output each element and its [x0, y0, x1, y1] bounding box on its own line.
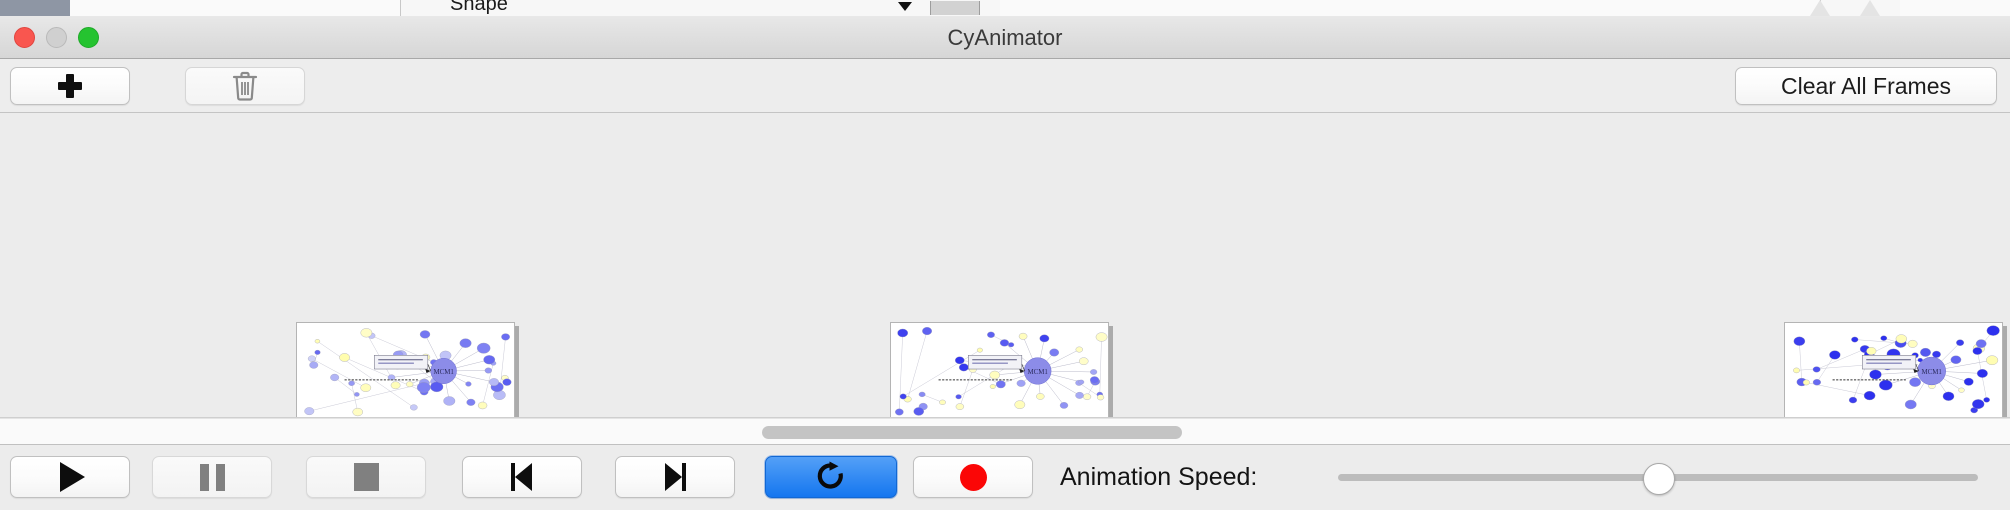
cyanimator-window: Shape CyAnimator Clear A [0, 0, 2010, 510]
keyframe-thumbnail[interactable]: MCM1 [890, 322, 1109, 418]
keyframe-thumbnail[interactable]: MCM1 [1784, 322, 2003, 418]
skip-to-end-button[interactable] [615, 456, 735, 498]
stop-icon [354, 463, 379, 491]
animation-speed-label: Animation Speed: [1060, 456, 1257, 498]
add-frame-button[interactable] [10, 67, 130, 105]
keyframe-thumbnail[interactable]: MCM1 [296, 322, 515, 418]
timeline-scrollbar[interactable] [0, 418, 2010, 445]
loop-button[interactable] [765, 456, 897, 498]
window-title: CyAnimator [0, 16, 2010, 59]
background-window-cell [230, 0, 301, 16]
background-window-label: Shape [450, 0, 508, 16]
svg-text:MCM1: MCM1 [1921, 369, 1942, 376]
trash-icon [232, 71, 258, 101]
clear-all-frames-label: Clear All Frames [1781, 73, 1951, 100]
clear-all-frames-button[interactable]: Clear All Frames [1735, 67, 1997, 105]
play-button[interactable] [10, 456, 130, 498]
record-icon [960, 464, 987, 491]
pause-button[interactable] [152, 456, 272, 498]
slider-thumb[interactable] [1643, 463, 1675, 495]
background-window-cell [170, 0, 231, 16]
skip-back-icon [509, 463, 535, 491]
background-window-cell [1900, 0, 2010, 16]
background-window-cell [1000, 0, 1821, 16]
animation-speed-slider[interactable] [1338, 456, 1978, 498]
transport-bar: Animation Speed: [0, 446, 2010, 510]
background-window-handle [930, 1, 980, 15]
background-caret-icon [898, 2, 912, 11]
skip-to-start-button[interactable] [462, 456, 582, 498]
stop-button[interactable] [306, 456, 426, 498]
plus-icon [57, 73, 83, 99]
timeline-scrollbar-thumb[interactable] [762, 426, 1182, 439]
delete-frame-button[interactable] [185, 67, 305, 105]
timeline-panel[interactable]: MCM1 MCM1 [0, 113, 2010, 418]
skip-forward-icon [662, 463, 688, 491]
background-window-sidebar [0, 0, 70, 16]
background-window-marker [1810, 0, 1830, 16]
loop-icon [816, 461, 846, 493]
play-icon [60, 462, 85, 492]
background-window-marker [1860, 0, 1880, 16]
title-bar[interactable]: CyAnimator [0, 16, 2010, 59]
background-window-cell [70, 0, 171, 16]
toolbar: Clear All Frames [0, 59, 2010, 113]
background-window-cell [300, 0, 401, 16]
svg-text:MCM1: MCM1 [433, 369, 454, 376]
pause-icon [200, 464, 225, 491]
background-window-strip: Shape [0, 0, 2010, 17]
record-button[interactable] [913, 456, 1033, 498]
svg-text:MCM1: MCM1 [1027, 369, 1048, 376]
